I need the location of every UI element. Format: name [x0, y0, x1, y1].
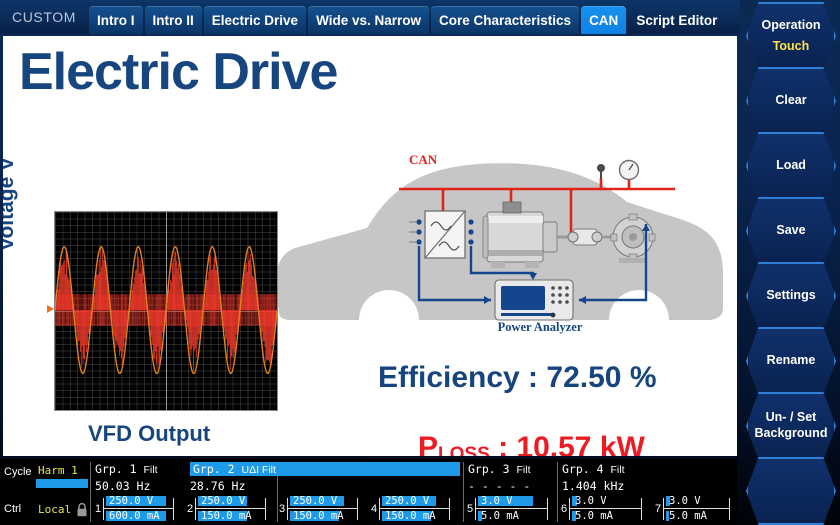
ctrl-value[interactable]: Local — [38, 503, 71, 516]
channel-current-value: 5.0 mA — [669, 510, 707, 522]
sidebar-button-rename[interactable]: Rename — [746, 327, 836, 395]
channel-number-7: 7 — [655, 503, 661, 515]
sidebar: OperationTouchClearLoadSaveSettingsRenam… — [742, 0, 840, 525]
tab-electric-drive[interactable]: Electric Drive — [204, 6, 306, 34]
channel-current-value: 5.0 mA — [481, 510, 519, 522]
channel-rail — [287, 508, 357, 509]
tab-intro-ii[interactable]: Intro II — [145, 6, 202, 34]
channel-rail — [103, 508, 173, 509]
channel-voltage-value: 250.0 V — [201, 495, 245, 507]
power-loss-readout: PLOSS : 10.57 kW — [418, 431, 645, 456]
ploss-separator: : — [490, 431, 517, 456]
sidebar-button-clear[interactable]: Clear — [746, 67, 836, 135]
channel-current-value: 600.0 mA — [109, 510, 160, 522]
channel-6[interactable]: 63.0 V5.0 mA — [561, 494, 647, 524]
channel-3[interactable]: 3250.0 V150.0 mA — [279, 494, 363, 524]
group-header-2[interactable]: Grp. 2 UΔI Filt — [190, 462, 460, 476]
channel-number-2: 2 — [187, 503, 193, 515]
oscilloscope-display[interactable] — [54, 211, 278, 411]
channel-voltage-value: 250.0 V — [293, 495, 337, 507]
efficiency-readout: Efficiency : 72.50 % — [378, 361, 657, 395]
scope-caption: VFD Output — [88, 421, 210, 447]
status-divider — [90, 462, 91, 522]
group-filter-4: Filt — [610, 464, 624, 476]
channel-rail — [379, 508, 449, 509]
channel-rail — [569, 508, 641, 509]
status-divider — [463, 462, 464, 522]
channel-7[interactable]: 73.0 V5.0 mA — [655, 494, 735, 524]
sidebar-button-label: Clear — [775, 93, 806, 109]
channel-rail — [195, 508, 265, 509]
ploss-label: P — [418, 431, 438, 456]
channel-number-4: 4 — [371, 503, 377, 515]
channel-bracket-right — [449, 498, 450, 520]
channel-bracket-right — [265, 498, 266, 520]
channel-rail — [663, 508, 729, 509]
efficiency-value: 72.50 % — [546, 361, 656, 394]
sidebar-button-load[interactable]: Load — [746, 132, 836, 200]
efficiency-label: Efficiency : — [378, 361, 538, 394]
page-title: Electric Drive — [19, 46, 337, 98]
channel-bracket-right — [173, 498, 174, 520]
sidebar-button-label: Save — [776, 223, 805, 239]
sidebar-button-settings[interactable]: Settings — [746, 262, 836, 330]
channel-voltage-value: 250.0 V — [109, 495, 153, 507]
channel-number-6: 6 — [561, 503, 567, 515]
channel-bracket-left — [103, 498, 104, 520]
channel-4[interactable]: 4250.0 V150.0 mA — [371, 494, 455, 524]
group-name-2: Grp. 2 — [193, 462, 235, 476]
channel-1[interactable]: 1250.0 V600.0 mA — [95, 494, 179, 524]
tab-intro-i[interactable]: Intro I — [89, 6, 143, 34]
channel-bracket-left — [569, 498, 570, 520]
status-divider — [557, 462, 558, 522]
ctrl-label: Ctrl — [4, 503, 21, 515]
channel-rail — [475, 508, 547, 509]
channel-voltage-value: 3.0 V — [669, 495, 701, 507]
channel-bracket-left — [475, 498, 476, 520]
cycle-value[interactable]: Harm 1 — [38, 464, 78, 477]
group-header-4[interactable]: Grp. 4 Filt — [562, 462, 624, 476]
tab-can[interactable]: CAN — [581, 6, 626, 34]
channel-bracket-left — [379, 498, 380, 520]
scope-waveform — [55, 212, 277, 410]
sidebar-button-label: Operation — [761, 18, 820, 34]
cycle-bar — [36, 479, 88, 488]
cycle-label: Cycle — [4, 466, 32, 478]
channel-bracket-right — [729, 498, 730, 520]
status-bar: Cycle Harm 1 Ctrl Local Grp. 1 Filt50.03… — [0, 459, 737, 525]
channel-5[interactable]: 53.0 V5.0 mA — [467, 494, 553, 524]
channel-bracket-right — [357, 498, 358, 520]
power-analyzer-label: Power Analyzer — [495, 320, 585, 335]
group-filter-2: UΔI Filt — [241, 464, 275, 476]
group-name-3: Grp. 3 — [468, 462, 510, 476]
group-frequency-4: 1.404 kHz — [562, 479, 624, 493]
group-filter-1: Filt — [143, 464, 157, 476]
sidebar-button-label: Load — [776, 158, 806, 174]
scope-y-axis-label: Voltage V — [3, 157, 19, 251]
channel-bracket-right — [641, 498, 642, 520]
sidebar-button-save[interactable]: Save — [746, 197, 836, 265]
sidebar-button-blank[interactable] — [746, 457, 836, 525]
channel-bracket-left — [195, 498, 196, 520]
channel-current-value: 150.0 mA — [201, 510, 252, 522]
group-filter-3: Filt — [516, 464, 530, 476]
powertrain-diagram: CAN — [383, 154, 683, 344]
ploss-subscript: LOSS — [438, 444, 490, 456]
channel-bracket-left — [663, 498, 664, 520]
channel-current-value: 5.0 mA — [575, 510, 613, 522]
channel-number-1: 1 — [95, 503, 101, 515]
sidebar-button-label: Settings — [766, 288, 815, 304]
tab-bar: CUSTOM Intro IIntro IIElectric DriveWide… — [0, 0, 740, 34]
group-header-1[interactable]: Grp. 1 Filt — [95, 462, 157, 476]
channel-current-value: 150.0 mA — [293, 510, 344, 522]
group-frequency-3: - - - - - — [468, 479, 530, 493]
group-header-3[interactable]: Grp. 3 Filt — [468, 462, 530, 476]
tab-core-characteristics[interactable]: Core Characteristics — [431, 6, 579, 34]
channel-current-value: 150.0 mA — [385, 510, 436, 522]
group-frequency-1: 50.03 Hz — [95, 479, 150, 493]
channel-voltage-value: 3.0 V — [481, 495, 513, 507]
custom-label: CUSTOM — [0, 9, 89, 34]
sidebar-button-label: Un- / SetBackground — [755, 410, 828, 441]
instrument-screen: CUSTOM Intro IIntro IIElectric DriveWide… — [0, 0, 840, 525]
channel-number-5: 5 — [467, 503, 473, 515]
ploss-value: 10.57 kW — [516, 431, 644, 456]
channel-voltage-value: 250.0 V — [385, 495, 429, 507]
sidebar-button-operation[interactable]: OperationTouch — [746, 2, 836, 70]
tab-script-editor[interactable]: Script Editor — [628, 6, 725, 34]
sidebar-button-sublabel: Touch — [773, 39, 810, 55]
can-bus-label: CAN — [409, 152, 437, 168]
group-name-1: Grp. 1 — [95, 462, 137, 476]
trigger-marker-icon — [47, 305, 54, 313]
main-canvas: Electric Drive CAN — [3, 36, 737, 456]
group-frequency-2: 28.76 Hz — [190, 479, 245, 493]
channel-number-3: 3 — [279, 503, 285, 515]
channel-bracket-right — [547, 498, 548, 520]
sidebar-button-label: Rename — [767, 353, 816, 369]
channel-bracket-left — [287, 498, 288, 520]
lock-icon — [76, 502, 88, 517]
sidebar-button-un-set-background[interactable]: Un- / SetBackground — [746, 392, 836, 460]
tab-wide-vs-narrow[interactable]: Wide vs. Narrow — [308, 6, 429, 34]
channel-2[interactable]: 2250.0 V150.0 mA — [187, 494, 271, 524]
group-name-4: Grp. 4 — [562, 462, 604, 476]
channel-voltage-value: 3.0 V — [575, 495, 607, 507]
